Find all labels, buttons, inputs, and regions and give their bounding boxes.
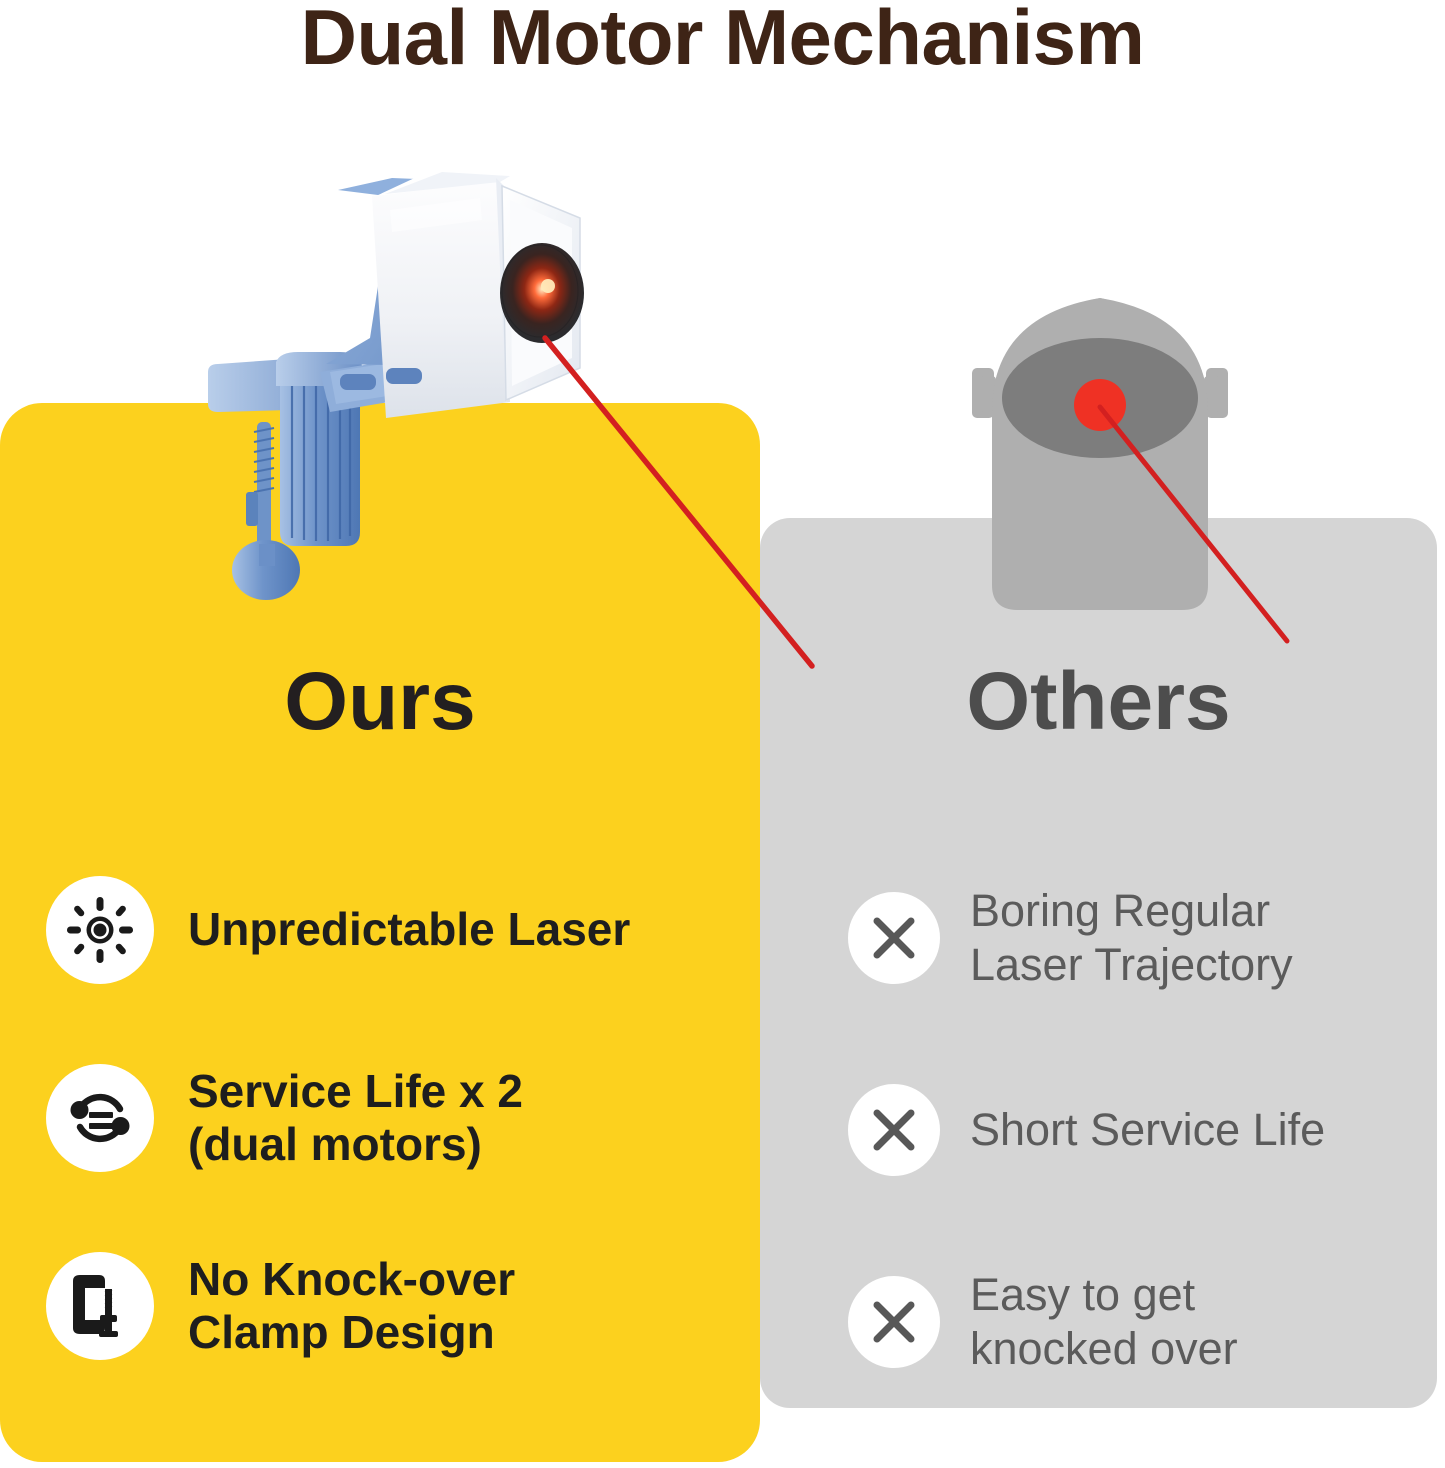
ours-feature-row-1: Unpredictable Laser [46, 836, 746, 1024]
ours-feature-list: Unpredictable Laser Service Life x 2 (du… [46, 836, 746, 1400]
comparison-infographic: Dual Motor Mechanism [0, 0, 1445, 1468]
ours-product-illustration [180, 160, 650, 630]
others-feature-label-1: Boring Regular Laser Trajectory [970, 884, 1293, 992]
cross-mark-icon [848, 892, 940, 984]
ours-feature-label-3: No Knock-over Clamp Design [188, 1253, 515, 1360]
ours-feature-row-3: No Knock-over Clamp Design [46, 1212, 746, 1400]
others-feature-row-3: Easy to get knocked over [848, 1226, 1428, 1418]
ours-feature-label-2: Service Life x 2 (dual motors) [188, 1065, 523, 1172]
others-feature-row-1: Boring Regular Laser Trajectory [848, 842, 1428, 1034]
others-product-illustration [950, 290, 1250, 635]
others-feature-label-3: Easy to get knocked over [970, 1268, 1238, 1376]
cross-mark-icon [848, 1276, 940, 1368]
ours-heading: Ours [0, 655, 760, 749]
service-life-cycle-icon [46, 1064, 154, 1172]
others-feature-row-2: Short Service Life [848, 1034, 1428, 1226]
cross-mark-icon [848, 1084, 940, 1176]
others-feature-list: Boring Regular Laser Trajectory Short Se… [848, 842, 1428, 1418]
brightness-sun-icon [46, 876, 154, 984]
c-clamp-icon [46, 1252, 154, 1360]
ours-feature-label-1: Unpredictable Laser [188, 903, 630, 956]
ours-feature-row-2: Service Life x 2 (dual motors) [46, 1024, 746, 1212]
others-feature-label-2: Short Service Life [970, 1103, 1325, 1157]
page-title: Dual Motor Mechanism [0, 0, 1445, 79]
others-heading: Others [760, 655, 1437, 749]
